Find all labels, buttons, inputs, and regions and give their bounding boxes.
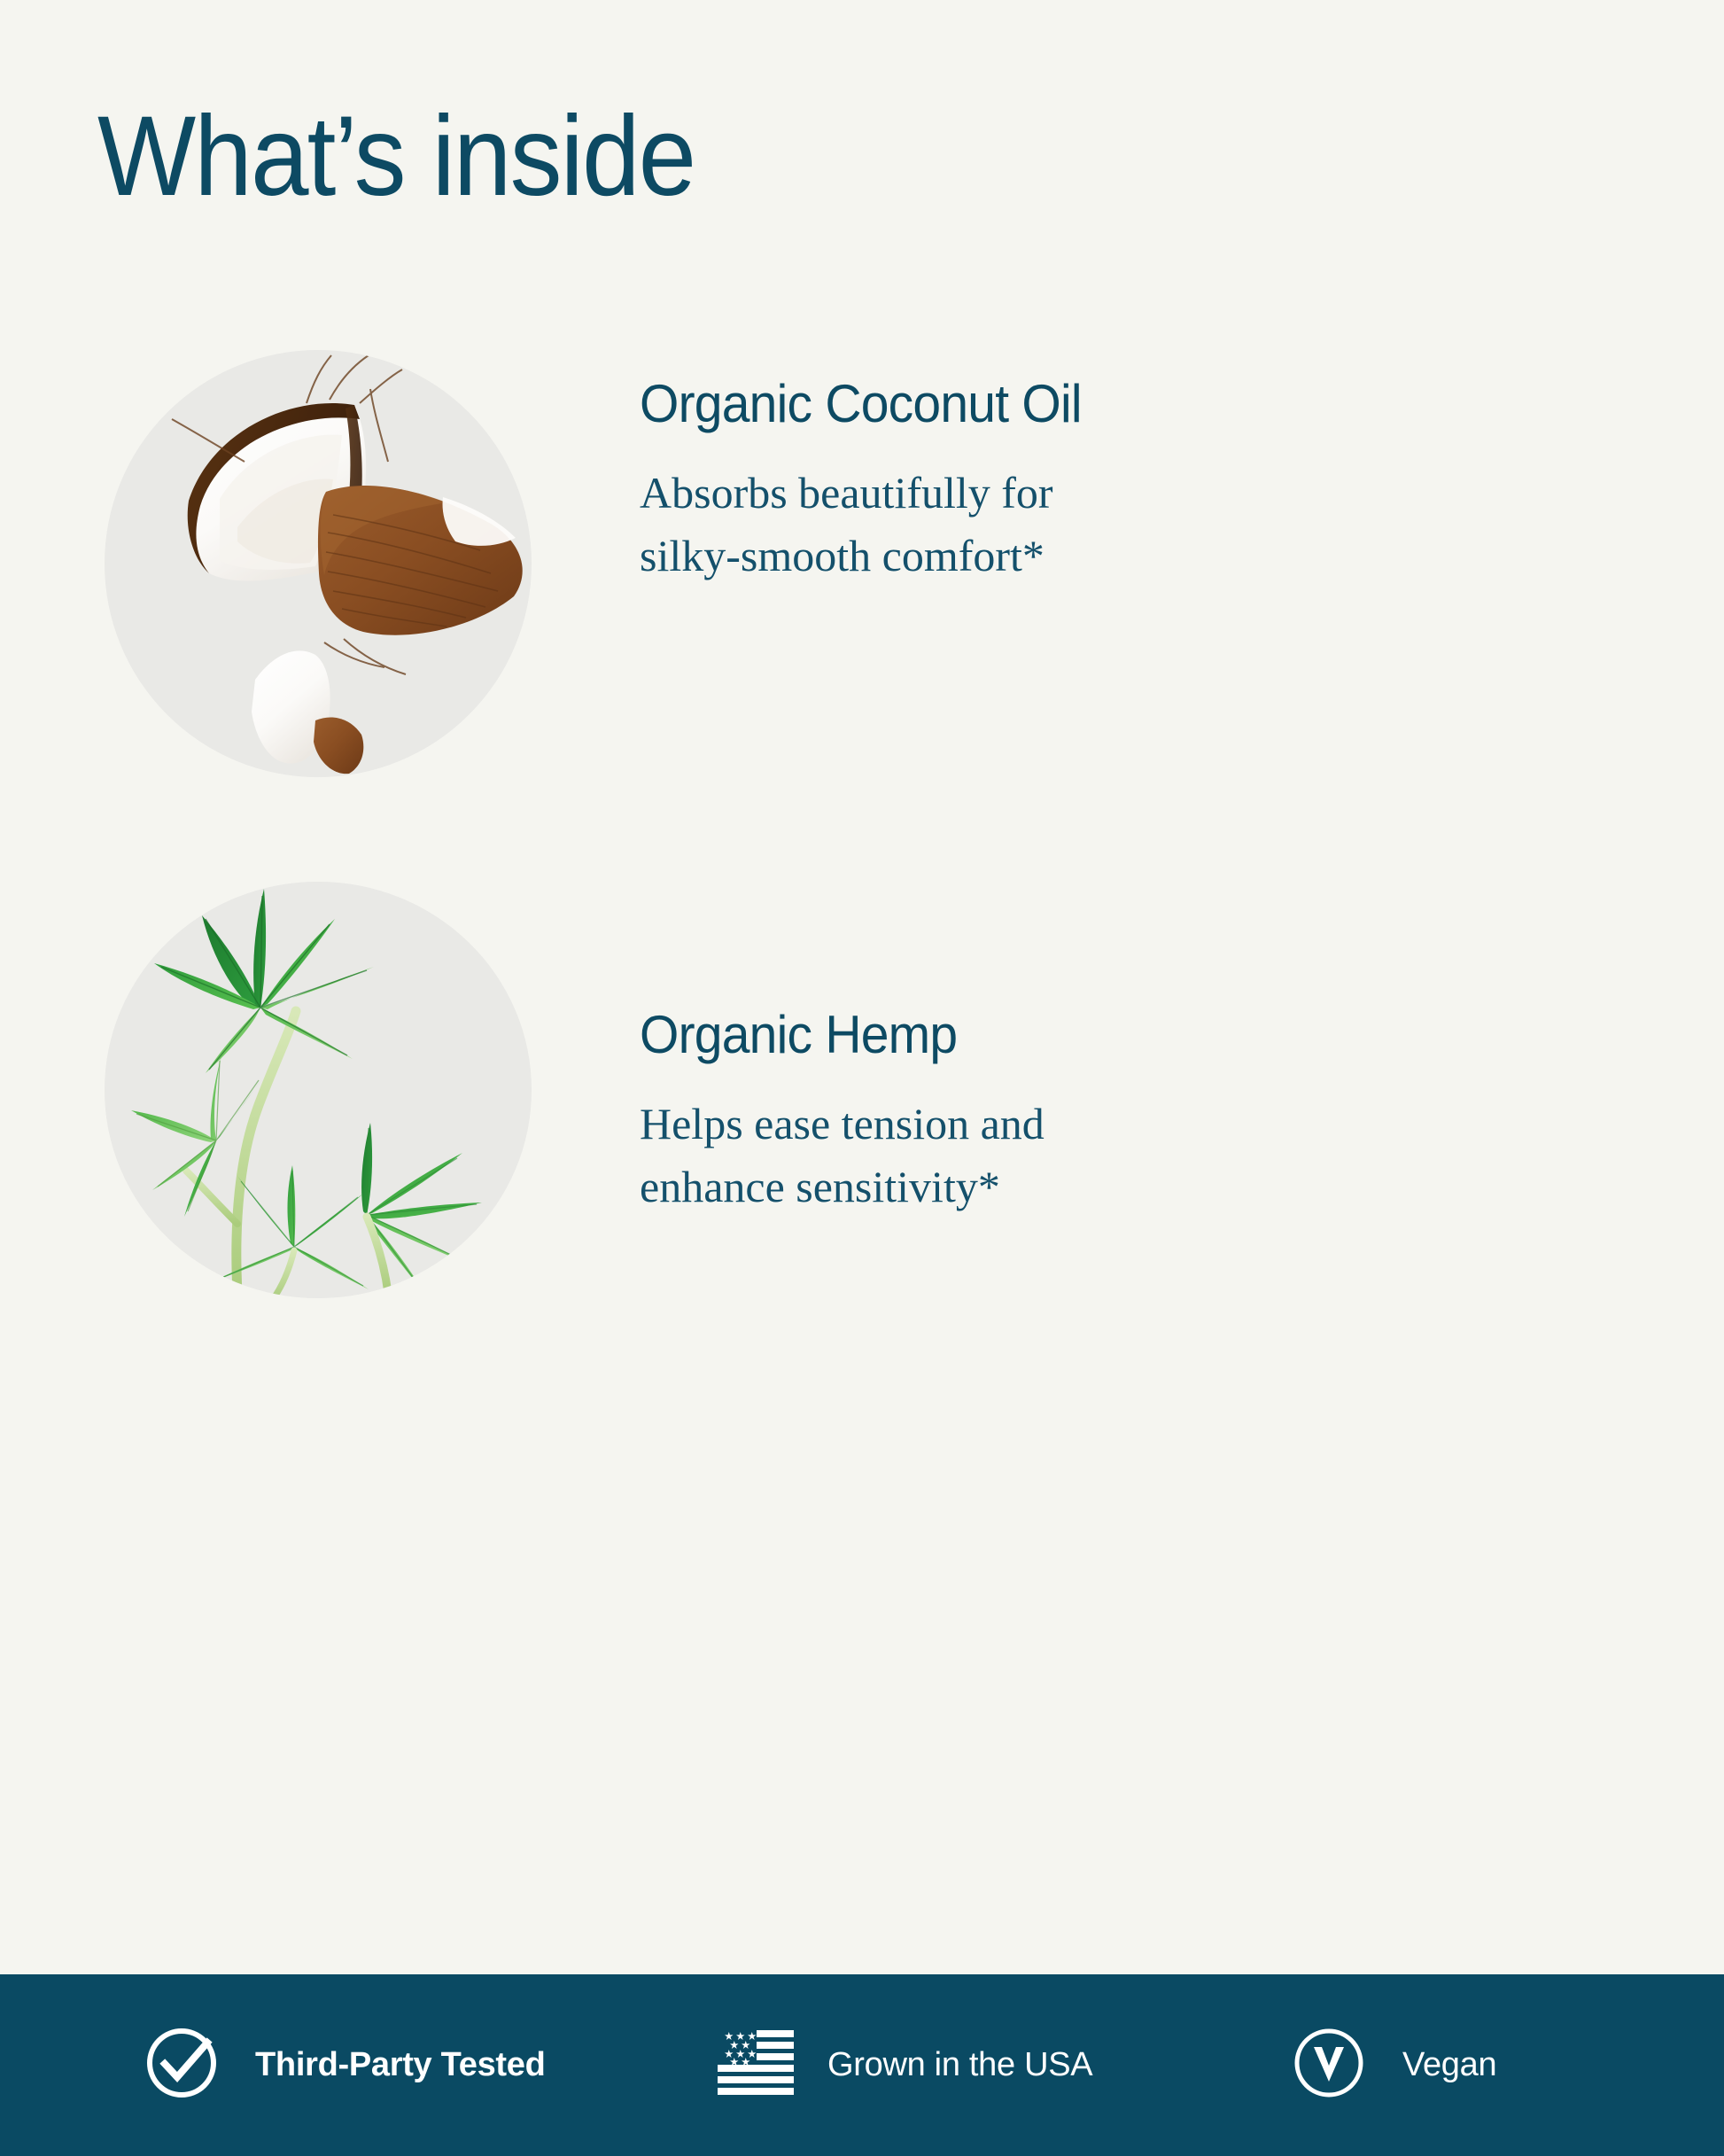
badge-label-vegan: Vegan — [1402, 2046, 1496, 2084]
ingredient-row-coconut: Organic Coconut Oil Absorbs beautifully … — [105, 350, 1105, 777]
ingredient-description-coconut: Absorbs beautifully for silky-smooth com… — [640, 462, 1105, 588]
badge-label-grown-in-usa: Grown in the USA — [827, 2046, 1092, 2084]
badge-vegan: Vegan — [1289, 2023, 1496, 2107]
badge-label-third-party-tested: Third-Party Tested — [255, 2046, 546, 2084]
ingredient-copy-coconut: Organic Coconut Oil Absorbs beautifully … — [640, 350, 1105, 588]
hemp-leaves-photo — [105, 882, 532, 1298]
ingredient-description-hemp: Helps ease tension and enhance sensitivi… — [640, 1093, 1044, 1218]
vegan-v-circle-icon — [1289, 2023, 1369, 2107]
ingredient-row-hemp: Organic Hemp Helps ease tension and enha… — [105, 882, 1044, 1298]
badge-third-party-tested: Third-Party Tested — [142, 2023, 546, 2107]
ingredient-title-hemp: Organic Hemp — [640, 1006, 1024, 1064]
ingredient-copy-hemp: Organic Hemp Helps ease tension and enha… — [640, 882, 1044, 1218]
ingredient-title-coconut: Organic Coconut Oil — [640, 375, 1082, 433]
page-title: What’s inside — [97, 96, 695, 218]
badge-grown-in-usa: Grown in the USA — [718, 2028, 1092, 2102]
check-circle-icon — [142, 2023, 221, 2107]
cracked-coconut-photo — [105, 350, 532, 777]
trust-badge-bar: Third-Party Tested — [0, 1974, 1724, 2156]
whats-inside-page: What’s inside — [0, 0, 1724, 2156]
usa-flag-icon — [718, 2028, 794, 2102]
